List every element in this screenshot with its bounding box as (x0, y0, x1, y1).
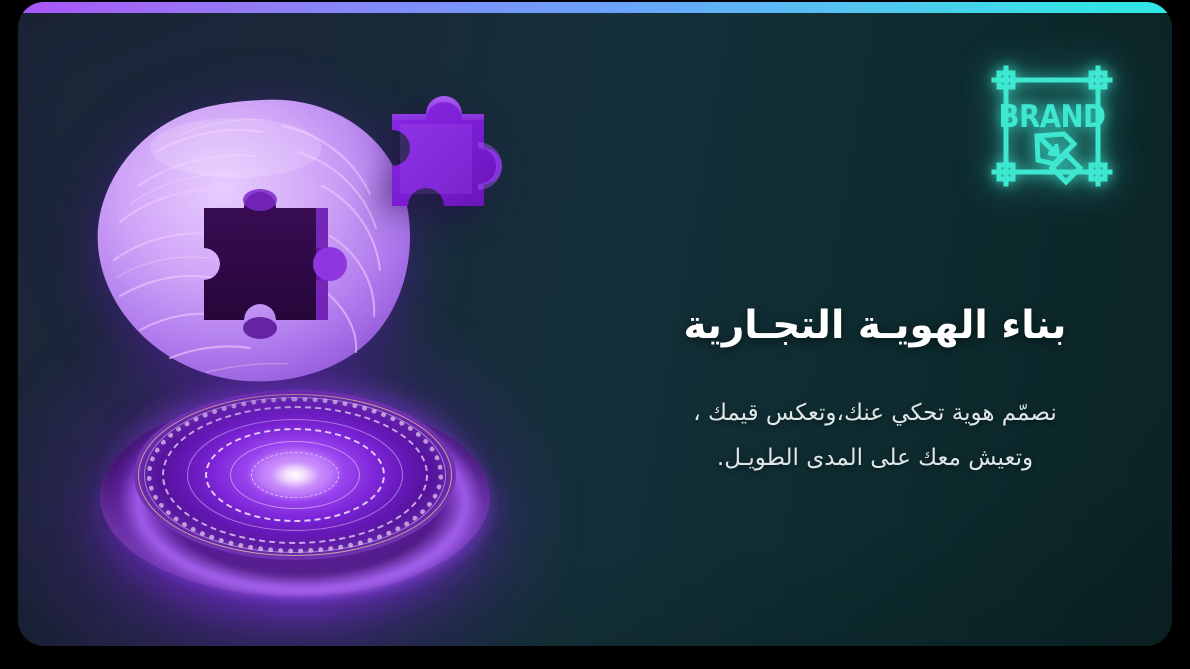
subtitle-line-1: نصمّم هوية تحكي عنك،وتعكس قيمك ، (640, 391, 1110, 436)
hud-platform (100, 380, 490, 610)
page-title: بناء الهويـة التجـارية (640, 302, 1110, 351)
platform-hud-rings (134, 390, 456, 560)
subtitle-line-2: وتعيش معك على المدى الطويـل. (640, 436, 1110, 481)
pen-tool-icon (1037, 134, 1080, 182)
brand-logo: BRAND (982, 56, 1122, 196)
brand-wordmark: BRAND (999, 98, 1106, 134)
screenshot-stage: BRAND بناء الهويـة التجـارية نصمّم هوية … (0, 0, 1190, 669)
page-subtitle: نصمّم هوية تحكي عنك،وتعكس قيمك ، وتعيش م… (640, 391, 1110, 481)
hero-artwork (78, 62, 558, 622)
hud-core-light (247, 448, 343, 502)
top-gradient-bar (18, 2, 1172, 13)
brand-identity-card: BRAND بناء الهويـة التجـارية نصمّم هوية … (18, 2, 1172, 646)
text-column: بناء الهويـة التجـارية نصمّم هوية تحكي ع… (640, 302, 1110, 480)
puzzle-piece (362, 84, 512, 234)
